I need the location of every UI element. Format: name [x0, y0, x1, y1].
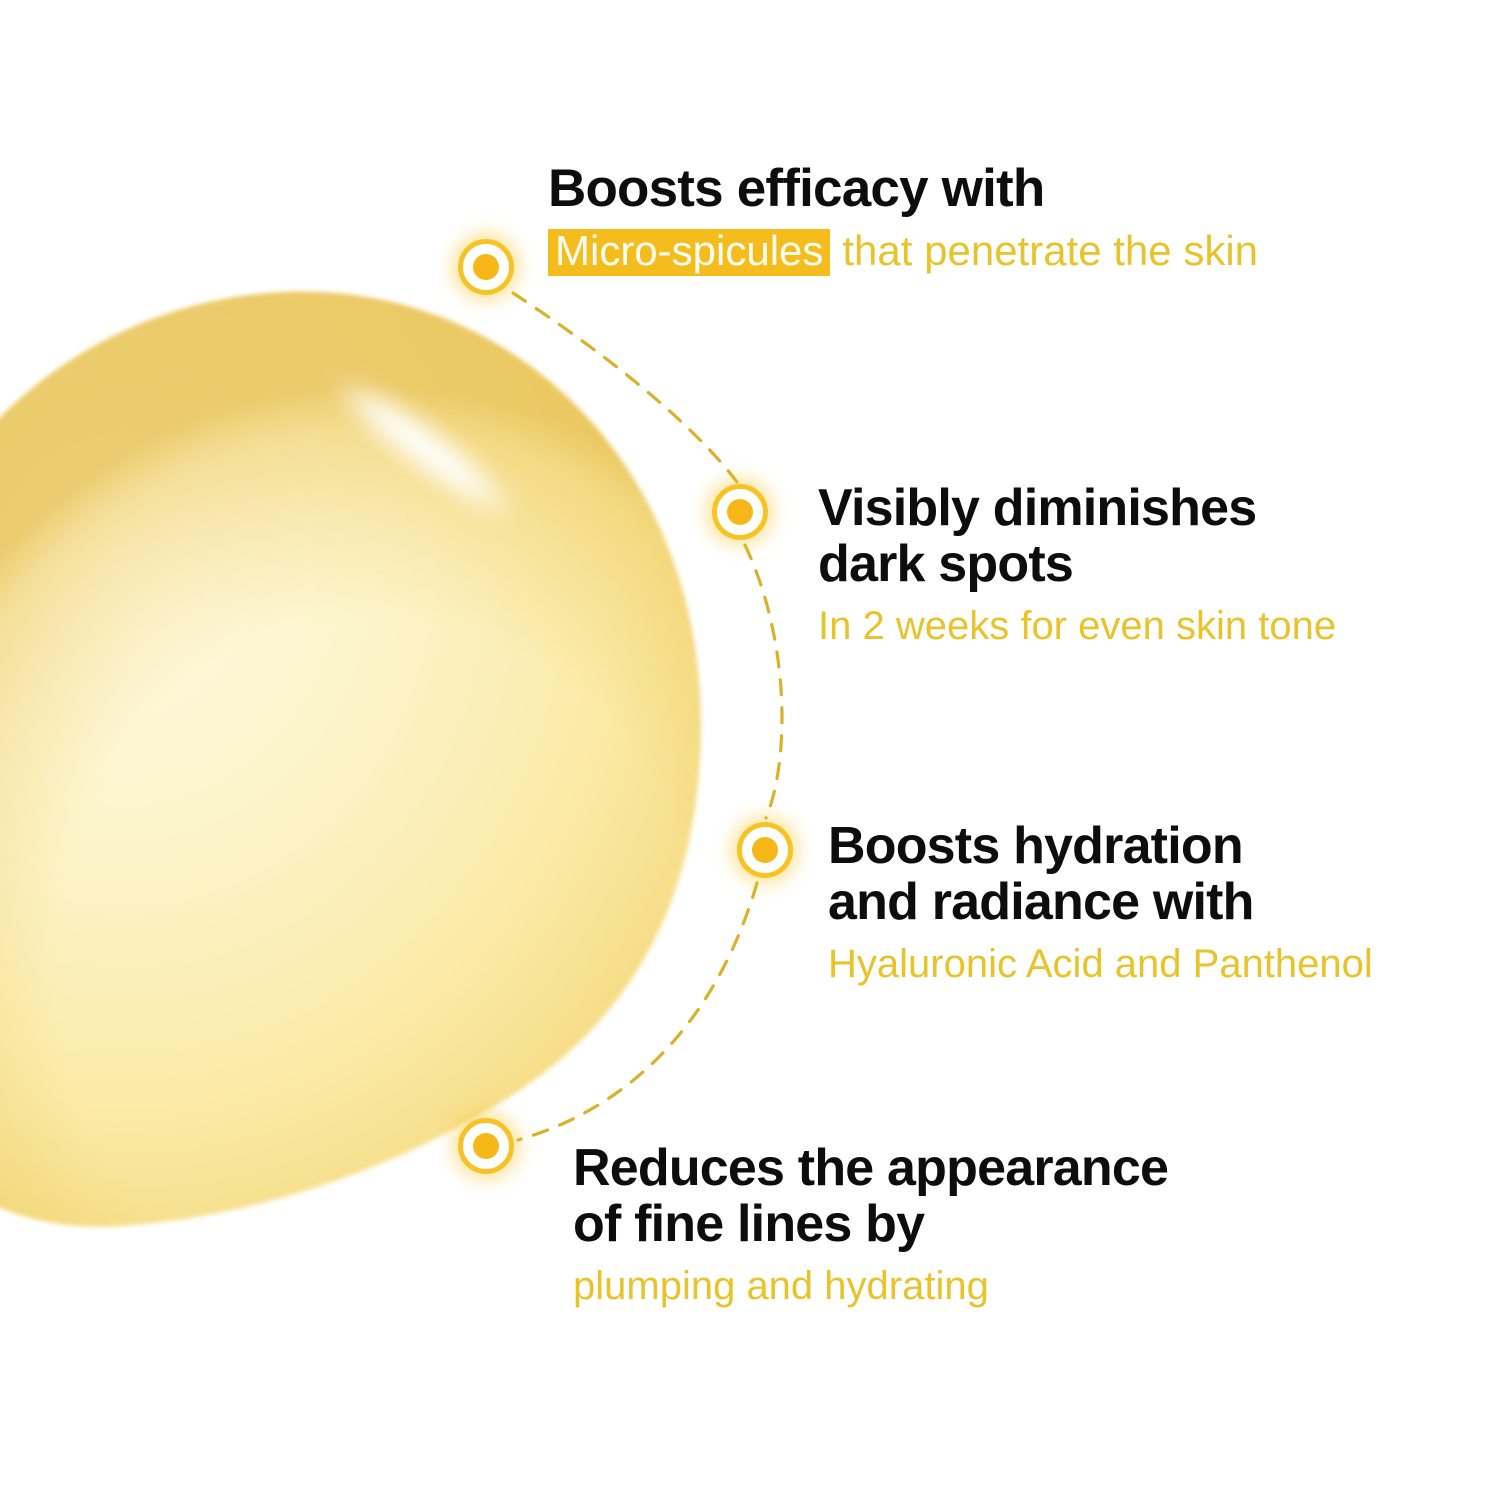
benefit-subtext: plumping and hydrating: [573, 1264, 1168, 1309]
benefit-block-fine-lines: Reduces the appearance of fine lines by …: [573, 1140, 1168, 1309]
benefit-heading-line: and radiance with: [828, 874, 1373, 930]
bullet-dot-2: [727, 499, 753, 525]
connector-segment-2-3: [745, 545, 782, 818]
bullet-dot-1: [473, 254, 499, 280]
benefit-heading-line: dark spots: [818, 536, 1336, 592]
benefit-heading-line: of fine lines by: [573, 1196, 1168, 1252]
benefit-subtext: that penetrate the skin: [842, 227, 1258, 274]
connector-segment-3-4: [518, 883, 757, 1140]
connector-segment-1-2: [513, 293, 737, 482]
bullet-marker-2: [712, 484, 768, 540]
bullet-marker-4: [458, 1118, 514, 1174]
benefit-subtext: Hyaluronic Acid and Panthenol: [828, 942, 1373, 987]
infographic-canvas: Boosts efficacy with Micro-spiculesthat …: [0, 0, 1500, 1500]
benefit-heading-line: Reduces the appearance: [573, 1140, 1168, 1196]
benefit-heading-line: Boosts hydration: [828, 818, 1373, 874]
benefit-block-micro-spicules: Boosts efficacy with Micro-spiculesthat …: [548, 160, 1258, 276]
bullet-marker-3: [737, 822, 793, 878]
bullet-marker-1: [458, 239, 514, 295]
benefit-subtext: In 2 weeks for even skin tone: [818, 604, 1336, 649]
bullet-dot-3: [752, 837, 778, 863]
benefit-block-dark-spots: Visibly diminishes dark spots In 2 weeks…: [818, 480, 1336, 649]
bullet-dot-4: [473, 1133, 499, 1159]
benefit-block-hydration-radiance: Boosts hydration and radiance with Hyalu…: [828, 818, 1373, 987]
highlight-chip-micro-spicules: Micro-spicules: [548, 229, 830, 276]
benefit-subtext-row: Micro-spiculesthat penetrate the skin: [548, 227, 1258, 276]
benefit-heading-line: Visibly diminishes: [818, 480, 1336, 536]
benefit-heading-line: Boosts efficacy with: [548, 160, 1258, 217]
